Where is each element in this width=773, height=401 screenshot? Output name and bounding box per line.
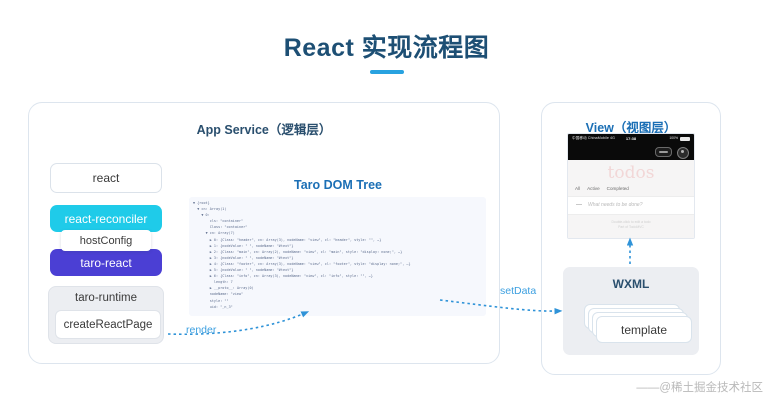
phone-app-body: todos All Active Completed What needs to… (568, 160, 694, 238)
page-title: React 实现流程图 (0, 32, 773, 64)
module-taro-react[interactable]: taro-react (50, 249, 162, 276)
module-react-label: react (93, 171, 120, 185)
setdata-arrow-label: setData (500, 285, 536, 297)
phone-preview: 中国移动 ChinaMobile 4G 17:38 100% todos All… (567, 133, 695, 239)
chevron-down-icon[interactable] (576, 204, 582, 205)
app-service-title: App Service（逻辑层） (29, 119, 499, 138)
module-create-react-page-label: createReactPage (64, 319, 153, 331)
page-title-english: React (284, 34, 355, 62)
battery-icon (680, 137, 690, 142)
module-create-react-page[interactable]: createReactPage (55, 310, 161, 339)
template-card-label: template (621, 323, 667, 337)
module-react-reconciler-label: react-reconciler (65, 212, 148, 226)
todo-filters: All Active Completed (575, 186, 629, 191)
todo-footer-line-2: Part of TodoMVC (568, 225, 694, 230)
template-card[interactable]: template (596, 316, 692, 343)
title-underline (370, 70, 404, 74)
title-area: React 实现流程图 (0, 32, 773, 74)
avatar-inner-dot (681, 150, 684, 153)
phone-status-bar: 中国移动 ChinaMobile 4G 17:38 100% (568, 134, 694, 160)
todo-filter-all[interactable]: All (575, 186, 580, 191)
todo-input-row[interactable]: What needs to be done? (568, 196, 694, 215)
module-taro-runtime[interactable]: taro-runtime createReactPage (48, 286, 164, 344)
module-hostconfig-label: hostConfig (80, 235, 133, 247)
todo-filter-completed[interactable]: Completed (607, 186, 629, 191)
phone-battery-label: 100% (669, 136, 678, 140)
wxml-box: WXML template (563, 267, 699, 355)
page-title-chinese: 实现流程图 (362, 34, 490, 62)
todo-input-placeholder: What needs to be done? (588, 202, 643, 208)
watermark: ——@稀土掘金技术社区 (636, 379, 763, 395)
render-arrow-label: render (186, 324, 216, 336)
module-taro-runtime-label: taro-runtime (49, 292, 163, 304)
module-taro-react-label: taro-react (80, 256, 131, 270)
avatar-icon[interactable] (677, 147, 689, 159)
taro-dom-tree-title: Taro DOM Tree (187, 178, 489, 192)
wxml-label: WXML (563, 277, 699, 291)
code-line: uid: "_n_3" (193, 304, 486, 310)
module-react-reconciler[interactable]: react-reconciler (50, 205, 162, 232)
todo-footer: Double-click to edit a todo Part of Todo… (568, 220, 694, 230)
module-react[interactable]: react (50, 163, 162, 193)
capsule-dots-icon (659, 151, 668, 153)
todo-filter-active[interactable]: Active (587, 186, 600, 191)
todos-app-title: todos (568, 163, 694, 183)
module-hostconfig[interactable]: hostConfig (61, 230, 151, 251)
taro-dom-tree-code-panel[interactable]: ▼ {root} ▼ cn: Array(1) ▼ 0: cls: "conta… (189, 197, 486, 316)
capsule-menu-icon[interactable] (655, 147, 672, 157)
